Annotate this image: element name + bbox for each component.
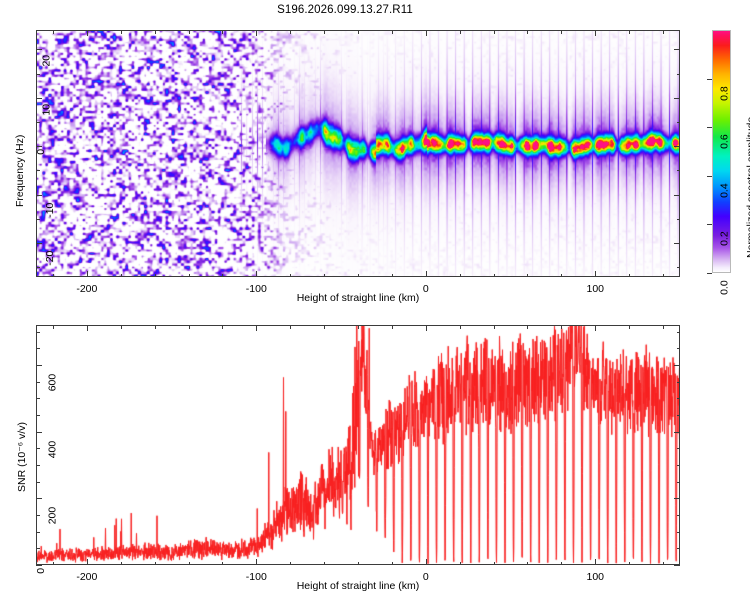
tick-mark <box>677 382 681 383</box>
tick-mark <box>189 30 190 34</box>
tick-label: 0 <box>35 568 47 574</box>
tick-mark <box>222 325 223 329</box>
tick-mark <box>629 325 630 329</box>
tick-label: 400 <box>47 440 59 458</box>
tick-mark <box>494 274 495 278</box>
tick-mark <box>677 532 681 533</box>
colorbar-tick-label: 0.4 <box>719 183 731 198</box>
tick-mark <box>36 348 40 349</box>
tick-mark <box>36 243 42 244</box>
tick-mark <box>290 30 291 34</box>
tick-mark <box>677 515 681 516</box>
tick-mark <box>155 30 156 34</box>
tick-mark <box>256 271 257 277</box>
tick-mark <box>36 548 40 549</box>
tick-mark <box>527 274 528 278</box>
tick-mark <box>256 30 257 36</box>
tick-mark <box>527 562 528 566</box>
tick-mark <box>36 532 40 533</box>
tick-mark <box>460 30 461 34</box>
tick-mark <box>189 325 190 329</box>
snr-y-axis-title: SNR (10⁻⁶ v/v) <box>16 422 28 492</box>
tick-mark <box>155 274 156 278</box>
tick-label: 10 <box>41 104 53 116</box>
tick-mark <box>460 274 461 278</box>
tick-mark <box>36 515 40 516</box>
colorbar-tick-label: 0.0 <box>719 280 731 295</box>
tick-mark <box>595 271 596 277</box>
tick-mark <box>677 170 681 171</box>
colorbar-title: Normalized spectral amplitude <box>745 117 750 258</box>
tick-mark <box>460 325 461 329</box>
tick-mark <box>674 365 680 366</box>
tick-mark <box>36 219 40 220</box>
tick-mark <box>290 274 291 278</box>
tick-mark <box>36 448 40 449</box>
tick-mark <box>36 332 40 333</box>
tick-mark <box>629 562 630 566</box>
tick-mark <box>36 365 42 366</box>
tick-mark <box>36 170 40 171</box>
tick-mark <box>358 325 359 329</box>
snr-line-trace <box>37 326 680 565</box>
tick-mark <box>707 127 712 128</box>
tick-mark <box>707 176 712 177</box>
tick-mark <box>36 465 40 466</box>
tick-mark <box>663 562 664 566</box>
tick-mark <box>36 382 40 383</box>
tick-mark <box>36 432 42 433</box>
tick-mark <box>677 122 681 123</box>
tick-mark <box>36 195 42 196</box>
tick-mark <box>392 562 393 566</box>
tick-mark <box>426 30 427 36</box>
tick-mark <box>189 562 190 566</box>
tick-mark <box>561 325 562 329</box>
tick-mark <box>674 49 680 50</box>
tick-mark <box>460 562 461 566</box>
spectrogram-x-axis-title: Height of straight line (km) <box>0 292 716 304</box>
tick-mark <box>674 243 680 244</box>
tick-mark <box>494 562 495 566</box>
tick-mark <box>36 565 42 566</box>
tick-mark <box>426 559 427 565</box>
tick-mark <box>87 30 88 36</box>
tick-mark <box>36 49 42 50</box>
tick-mark <box>87 559 88 565</box>
tick-mark <box>629 274 630 278</box>
tick-mark <box>674 146 680 147</box>
tick-mark <box>324 30 325 34</box>
tick-mark <box>494 30 495 34</box>
tick-mark <box>677 332 681 333</box>
tick-mark <box>36 122 40 123</box>
tick-mark <box>358 30 359 34</box>
tick-mark <box>663 325 664 329</box>
tick-mark <box>36 74 40 75</box>
spectrogram-image <box>37 31 680 277</box>
tick-mark <box>324 325 325 329</box>
tick-mark <box>36 482 40 483</box>
figure-root: S196.2026.099.13.27.R11 -200-1000100 -20… <box>0 0 750 600</box>
tick-mark <box>256 325 257 331</box>
tick-mark <box>36 267 40 268</box>
tick-mark <box>677 465 681 466</box>
tick-mark <box>87 325 88 331</box>
figure-title: S196.2026.099.13.27.R11 <box>0 4 690 16</box>
tick-mark <box>324 562 325 566</box>
tick-mark <box>561 562 562 566</box>
tick-mark <box>674 565 680 566</box>
tick-mark <box>121 562 122 566</box>
tick-mark <box>392 30 393 34</box>
tick-mark <box>426 271 427 277</box>
tick-mark <box>392 325 393 329</box>
tick-mark <box>290 562 291 566</box>
tick-mark <box>677 415 681 416</box>
tick-mark <box>121 325 122 329</box>
tick-mark <box>36 498 42 499</box>
tick-mark <box>561 274 562 278</box>
tick-mark <box>222 562 223 566</box>
tick-mark <box>595 559 596 565</box>
tick-mark <box>677 448 681 449</box>
tick-mark <box>324 274 325 278</box>
tick-mark <box>677 74 681 75</box>
tick-mark <box>663 30 664 34</box>
tick-mark <box>527 325 528 329</box>
tick-mark <box>290 325 291 329</box>
tick-mark <box>707 273 712 274</box>
tick-mark <box>677 548 681 549</box>
tick-mark <box>677 398 681 399</box>
tick-mark <box>674 98 680 99</box>
colorbar-tick-label: 0.2 <box>719 231 731 246</box>
tick-mark <box>222 274 223 278</box>
tick-mark <box>674 432 680 433</box>
tick-mark <box>36 415 40 416</box>
tick-mark <box>53 325 54 329</box>
tick-label: 600 <box>47 374 59 392</box>
tick-mark <box>53 562 54 566</box>
tick-mark <box>121 30 122 34</box>
colorbar-tick-label: 0.6 <box>719 134 731 149</box>
tick-mark <box>358 562 359 566</box>
tick-mark <box>707 224 712 225</box>
tick-label: -20 <box>44 251 56 266</box>
tick-mark <box>36 98 42 99</box>
tick-mark <box>36 146 42 147</box>
tick-mark <box>392 274 393 278</box>
tick-mark <box>121 274 122 278</box>
tick-label: 0 <box>35 149 47 155</box>
tick-mark <box>256 559 257 565</box>
tick-mark <box>53 30 54 34</box>
tick-mark <box>53 274 54 278</box>
tick-mark <box>222 30 223 34</box>
tick-mark <box>595 30 596 36</box>
tick-mark <box>629 30 630 34</box>
tick-mark <box>677 267 681 268</box>
tick-mark <box>358 274 359 278</box>
spectrogram-plot-area <box>36 30 680 277</box>
tick-mark <box>674 498 680 499</box>
tick-label: 200 <box>47 507 59 525</box>
tick-mark <box>87 271 88 277</box>
tick-mark <box>527 30 528 34</box>
tick-mark <box>494 325 495 329</box>
tick-mark <box>36 398 40 399</box>
tick-label: 20 <box>41 55 53 67</box>
tick-mark <box>707 79 712 80</box>
snr-x-axis-title: Height of straight line (km) <box>0 580 716 592</box>
tick-mark <box>677 219 681 220</box>
tick-mark <box>674 195 680 196</box>
snr-plot-area <box>36 325 680 565</box>
tick-mark <box>155 562 156 566</box>
tick-mark <box>595 325 596 331</box>
tick-mark <box>677 482 681 483</box>
tick-mark <box>189 274 190 278</box>
colorbar-tick-label: 0.8 <box>719 86 731 101</box>
tick-mark <box>155 325 156 329</box>
tick-mark <box>561 30 562 34</box>
tick-mark <box>677 348 681 349</box>
tick-label: -10 <box>44 202 56 217</box>
tick-mark <box>426 325 427 331</box>
spectrogram-y-axis-title: Frequency (Hz) <box>14 135 26 207</box>
tick-mark <box>663 274 664 278</box>
